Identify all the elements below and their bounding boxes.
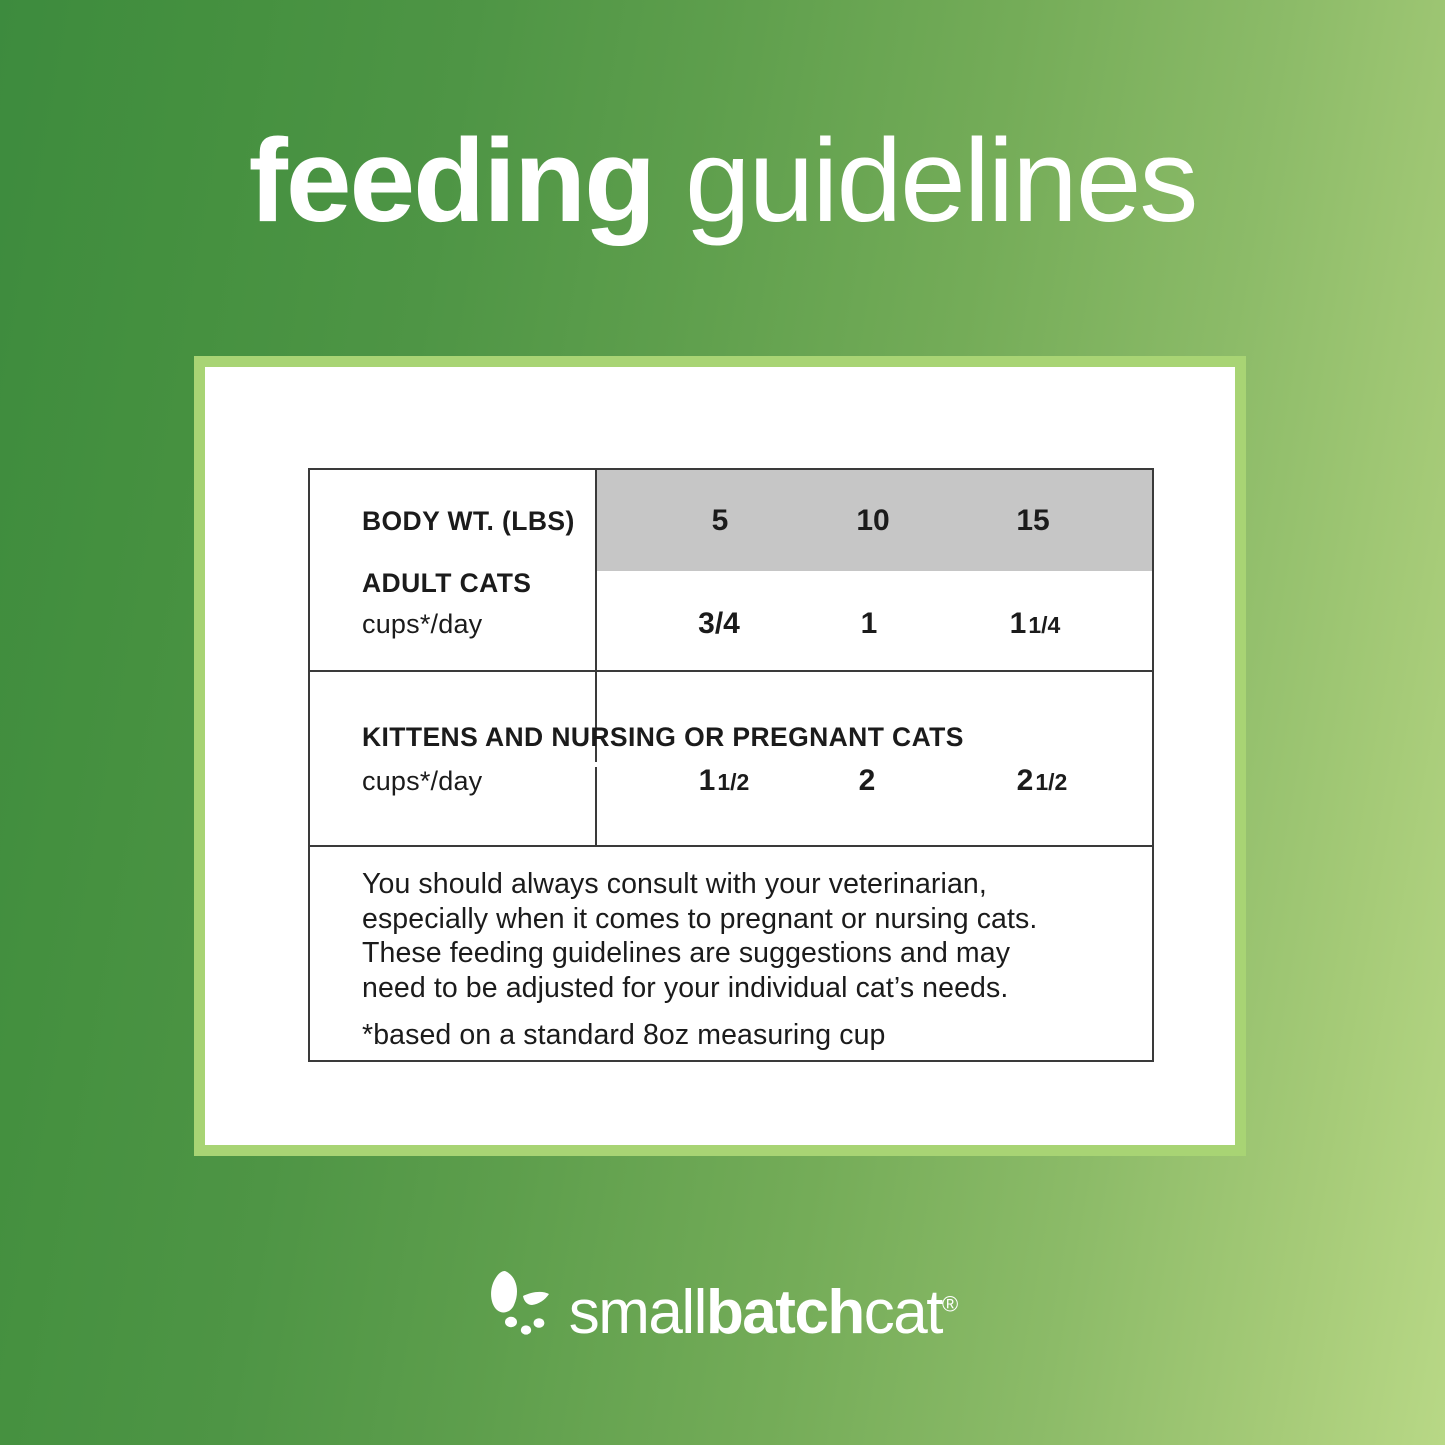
adult-value-3-whole: 1: [1010, 607, 1027, 640]
brand-wordmark: smallbatchcat®: [569, 1282, 958, 1344]
kittens-value-1-whole: 1: [699, 764, 716, 797]
disclaimer-note: You should always consult with your vete…: [362, 867, 1122, 1053]
note-line-3: These feeding guidelines are suggestions…: [362, 936, 1122, 971]
feeding-table: BODY WT. (LBS) 5 10 15 ADULT CATS cups*/…: [308, 468, 1154, 1062]
adult-cats-label: ADULT CATS: [362, 568, 531, 599]
body-weight-value-2: 10: [856, 504, 889, 538]
adult-value-3: 11/4: [1010, 607, 1061, 641]
kittens-value-2: 2: [859, 764, 878, 798]
guidelines-card: BODY WT. (LBS) 5 10 15 ADULT CATS cups*/…: [194, 356, 1246, 1156]
adult-cats-units: cups*/day: [362, 609, 482, 640]
kittens-label: KITTENS AND NURSING OR PREGNANT CATS: [362, 722, 964, 753]
kittens-value-3: 21/2: [1017, 764, 1068, 798]
table-vertical-divider-upper: [595, 470, 597, 762]
adult-value-2: 1: [861, 607, 880, 641]
adult-value-1-whole: 3/4: [698, 607, 740, 640]
page-title-part-2: guidelines: [654, 115, 1196, 247]
table-rule-adult-bottom: [310, 670, 1152, 672]
kittens-value-1: 11/2: [699, 764, 750, 798]
brand-logo: smallbatchcat®: [0, 1268, 1445, 1348]
page-title-part-1: feeding: [249, 115, 655, 247]
kittens-value-2-whole: 2: [859, 764, 876, 797]
adult-value-1: 3/4: [698, 607, 742, 641]
note-line-4: need to be adjusted for your individual …: [362, 971, 1122, 1006]
kittens-value-3-fraction: 1/2: [1035, 769, 1067, 795]
table-vertical-divider-lower: [595, 767, 597, 845]
kittens-value-3-whole: 2: [1017, 764, 1034, 797]
leaf-and-bird-paw-mark: [487, 1268, 563, 1348]
kittens-value-1-fraction: 1/2: [717, 769, 749, 795]
feeding-guidelines-page: feeding guidelines BODY WT. (LBS) 5 10 1…: [0, 0, 1445, 1445]
body-weight-label: BODY WT. (LBS): [362, 506, 575, 537]
brand-word-batch: batch: [706, 1278, 864, 1347]
note-line-2: especially when it comes to pregnant or …: [362, 902, 1122, 937]
kittens-units: cups*/day: [362, 766, 482, 797]
note-footnote: *based on a standard 8oz measuring cup: [362, 1018, 1122, 1053]
page-title: feeding guidelines: [0, 122, 1445, 240]
body-weight-value-1: 5: [712, 504, 729, 538]
note-line-1: You should always consult with your vete…: [362, 867, 1122, 902]
body-weight-value-3: 15: [1016, 504, 1049, 538]
adult-value-2-whole: 1: [861, 607, 878, 640]
adult-value-3-fraction: 1/4: [1028, 612, 1060, 638]
registered-trademark-icon: ®: [942, 1291, 958, 1316]
table-rule-kittens-bottom: [310, 845, 1152, 847]
brand-word-small: small: [569, 1278, 706, 1347]
brand-word-cat: cat: [864, 1278, 942, 1347]
